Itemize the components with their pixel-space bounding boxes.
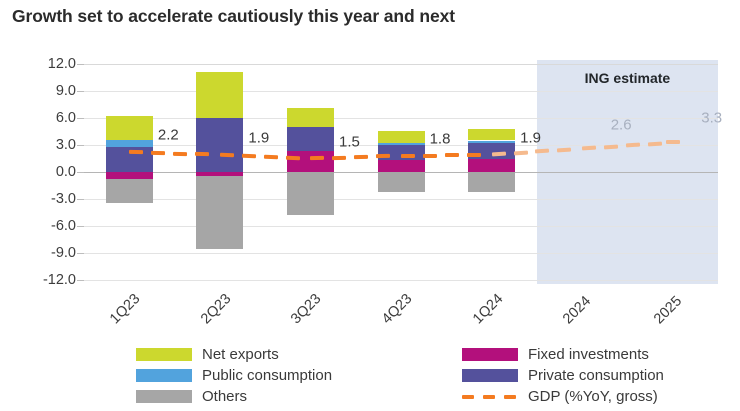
gdp-line-dash [423, 153, 437, 157]
legend-item[interactable]: Public consumption [136, 365, 332, 385]
y-axis-label: 0.0 [14, 164, 76, 180]
chart-title: Growth set to accelerate cautiously this… [12, 6, 455, 27]
y-axis-label: -9.0 [14, 245, 76, 261]
bar-segment [287, 108, 334, 127]
bar-segment [468, 159, 515, 172]
gdp-line-dash [513, 150, 527, 155]
gdp-value-label: 1.8 [430, 130, 451, 147]
bar-segment [378, 172, 425, 192]
gdp-line-dash [557, 147, 571, 152]
gdp-line-dash [445, 153, 459, 157]
y-axis-label: 6.0 [14, 110, 76, 126]
bar-4Q23[interactable] [378, 60, 425, 284]
gdp-value-label: 2.2 [158, 127, 179, 144]
gdp-line-dash [401, 154, 415, 158]
y-axis-label: -6.0 [14, 218, 76, 234]
bar-1Q23[interactable] [106, 60, 153, 284]
gdp-line-dash [666, 140, 680, 144]
gdp-line-dash [151, 151, 165, 155]
x-axis-label-3Q23: 3Q23 [288, 291, 324, 327]
legend-item[interactable]: Net exports [136, 344, 279, 364]
x-axis-label-1Q23: 1Q23 [107, 291, 143, 327]
bar-segment [106, 179, 153, 202]
gdp-line-dash [286, 156, 300, 161]
x-axis-label-2Q23: 2Q23 [198, 291, 234, 327]
legend-color-swatch [462, 369, 518, 382]
y-axis-tick [77, 145, 84, 146]
gdp-value-label: 1.9 [248, 129, 269, 146]
y-axis-tick [77, 118, 84, 119]
gdp-value-label: 2.6 [611, 116, 632, 133]
bar-segment [196, 118, 243, 172]
bar-segment [196, 176, 243, 250]
x-axis-label-2025: 2025 [651, 293, 685, 327]
gdp-line-dash [604, 144, 618, 149]
legend-color-swatch [462, 348, 518, 361]
gdp-value-label: 1.9 [520, 129, 541, 146]
gdp-line-dash [173, 152, 187, 156]
bar-3Q23[interactable] [287, 60, 334, 284]
legend-label: Fixed investments [528, 346, 649, 363]
legend-label: Net exports [202, 346, 279, 363]
y-axis-tick [77, 199, 84, 200]
bar-segment [468, 141, 515, 144]
y-axis-label: -3.0 [14, 191, 76, 207]
legend-dash-swatch [462, 390, 518, 403]
bar-1Q24[interactable] [468, 60, 515, 284]
gdp-line-dash [648, 141, 662, 146]
gdp-line-dash [310, 156, 324, 160]
x-axis-label-4Q23: 4Q23 [379, 291, 415, 327]
legend-item[interactable]: GDP (%YoY, gross) [462, 386, 658, 406]
y-axis-tick [77, 226, 84, 227]
bar-segment [378, 143, 425, 145]
gdp-line-dash [220, 153, 234, 158]
y-axis-label: 9.0 [14, 83, 76, 99]
y-axis-tick [77, 91, 84, 92]
gdp-value-label: 1.5 [339, 133, 360, 150]
gdp-line-dash [467, 153, 481, 157]
plot-area: 2.21.91.51.81.92.63.3 ING estimate [84, 60, 718, 284]
x-axis-label-2024: 2024 [560, 293, 594, 327]
bar-2Q23[interactable] [196, 60, 243, 284]
gdp-value-label: 3.3 [701, 110, 722, 127]
gdp-line-dash [332, 155, 346, 159]
legend-color-swatch [136, 348, 192, 361]
bar-segment [468, 129, 515, 141]
y-axis-label: 12.0 [14, 56, 76, 72]
bar-segment [287, 172, 334, 215]
bar-segment [196, 72, 243, 118]
bar-segment [287, 151, 334, 172]
x-axis-labels: 1Q232Q233Q234Q231Q2420242025 [0, 286, 740, 341]
chart-legend: Net exportsFixed investmentsPublic consu… [0, 344, 740, 411]
legend-item[interactable]: Others [136, 386, 247, 406]
bar-segment [378, 160, 425, 172]
legend-label: Private consumption [528, 367, 664, 384]
gdp-line-dash [354, 155, 368, 159]
gdp-line-dash [242, 154, 256, 159]
legend-color-swatch [136, 369, 192, 382]
y-axis-labels: 12.09.06.03.00.0-3.0-6.0-9.0-12.0 [10, 60, 76, 284]
legend-item[interactable]: Fixed investments [462, 344, 649, 364]
chart-root: Growth set to accelerate cautiously this… [0, 0, 740, 411]
y-axis-tick [77, 280, 84, 281]
y-axis-tick [77, 253, 84, 254]
ing-estimate-label: ING estimate [585, 70, 671, 86]
bar-segment [378, 131, 425, 144]
legend-label: Others [202, 388, 247, 405]
y-axis-tick [77, 172, 84, 173]
legend-label: GDP (%YoY, gross) [528, 388, 658, 405]
gdp-line-dash [264, 155, 278, 160]
bar-segment [106, 172, 153, 179]
bar-segment [468, 172, 515, 192]
legend-item[interactable]: Private consumption [462, 365, 664, 385]
legend-color-swatch [136, 390, 192, 403]
x-axis-label-1Q24: 1Q24 [470, 291, 506, 327]
bar-segment [287, 127, 334, 151]
y-axis-tick [77, 64, 84, 65]
legend-label: Public consumption [202, 367, 332, 384]
bar-segment [106, 140, 153, 147]
y-axis-label: 3.0 [14, 137, 76, 153]
bar-segment [106, 116, 153, 139]
